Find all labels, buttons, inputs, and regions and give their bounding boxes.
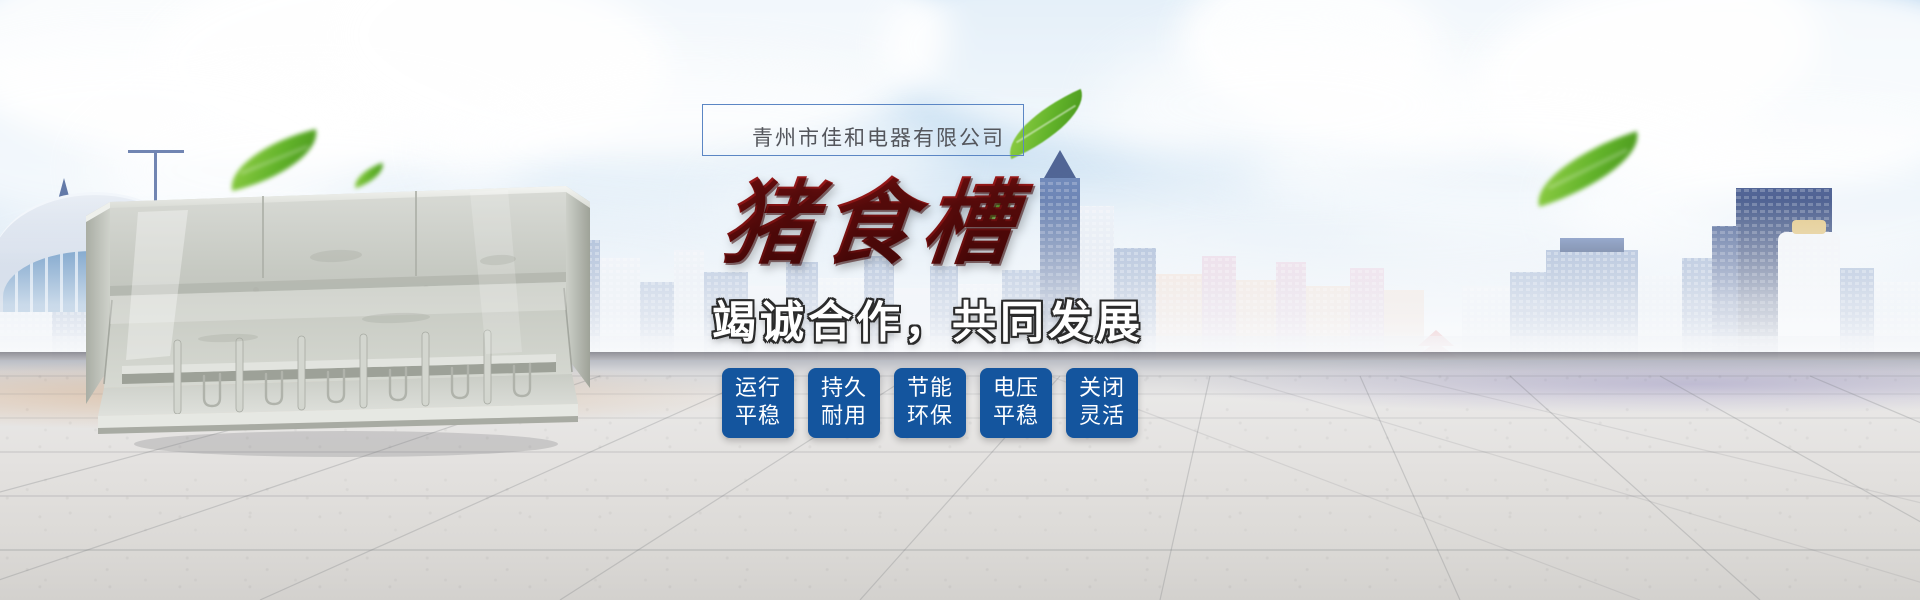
- feature-badge-operation-stable[interactable]: 运行 平稳: [722, 368, 794, 438]
- subtitle-slogan: 竭诚合作，共同发展: [712, 286, 1144, 350]
- badge-line-1: 关闭: [1079, 375, 1125, 403]
- badge-line-1: 持久: [821, 375, 867, 403]
- badge-line-2: 耐用: [821, 403, 867, 431]
- promotional-banner: 青州市佳和电器有限公司 猪食槽 竭诚合作，共同发展 运行 平稳 持久 耐用 节能…: [0, 0, 1920, 600]
- badge-line-1: 电压: [993, 375, 1039, 403]
- product-image-feeder-trough: [78, 160, 598, 460]
- page-title: 猪食槽: [716, 168, 1048, 278]
- badge-line-2: 平稳: [735, 403, 781, 431]
- badge-line-2: 环保: [907, 403, 953, 431]
- feature-badge-list: 运行 平稳 持久 耐用 节能 环保 电压 平稳 关闭 灵活: [722, 368, 1138, 438]
- badge-line-2: 平稳: [993, 403, 1039, 431]
- feature-badge-energy-saving[interactable]: 节能 环保: [894, 368, 966, 438]
- feature-badge-flexible-closing[interactable]: 关闭 灵活: [1066, 368, 1138, 438]
- company-name-rule: [703, 155, 747, 156]
- feature-badge-voltage-stable[interactable]: 电压 平稳: [980, 368, 1052, 438]
- badge-line-1: 运行: [735, 375, 781, 403]
- feature-badge-durable[interactable]: 持久 耐用: [808, 368, 880, 438]
- badge-line-2: 灵活: [1079, 403, 1125, 431]
- company-name: 青州市佳和电器有限公司: [752, 122, 1005, 152]
- badge-line-1: 节能: [907, 375, 953, 403]
